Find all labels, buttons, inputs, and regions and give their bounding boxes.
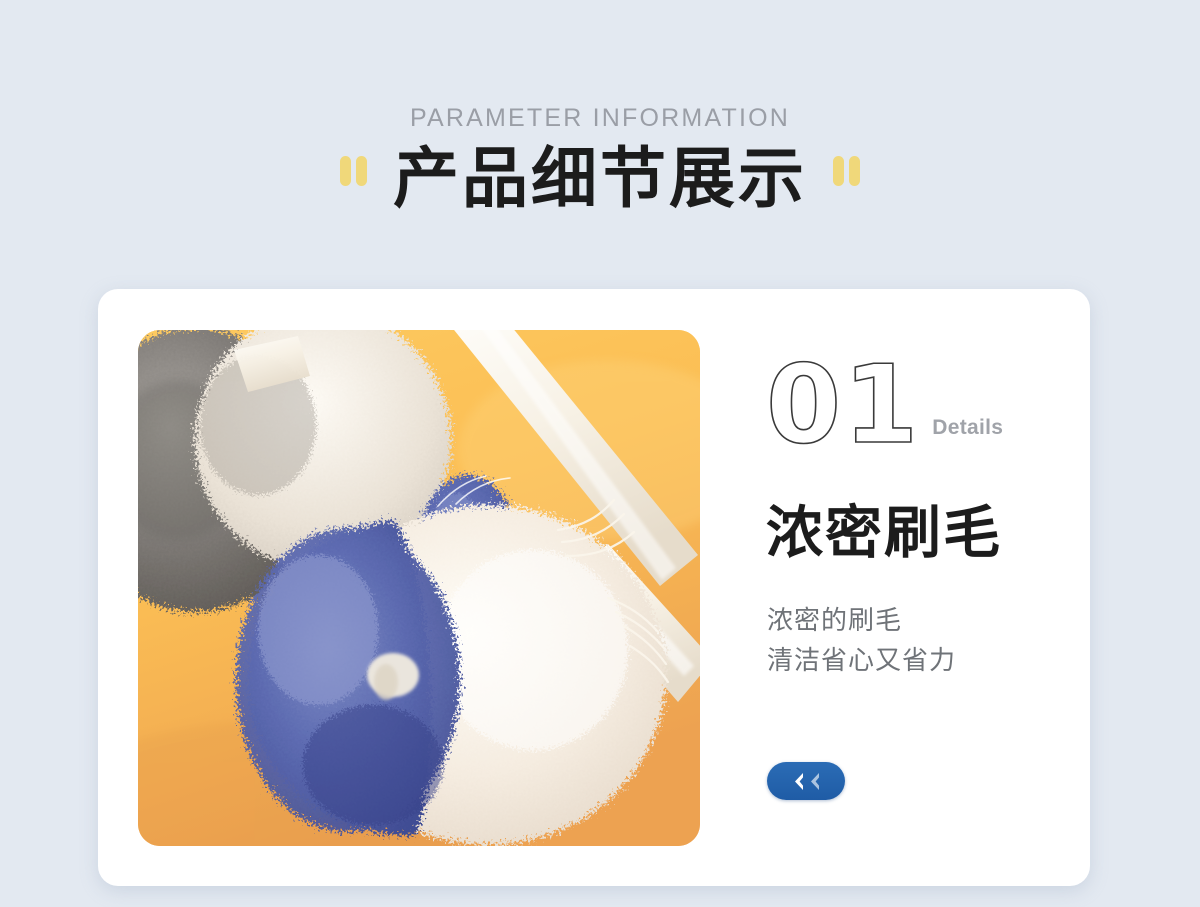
chevron-left-icon [791,772,806,791]
product-photo [138,330,700,846]
chevron-left-icon-secondary [807,772,822,791]
detail-number: 01 [766,363,920,449]
detail-info-column: 01 Details 浓密刷毛 浓密的刷毛 清洁省心又省力 [766,289,1090,886]
quote-bars-icon-right [833,156,860,186]
page-header: PARAMETER INFORMATION 产品细节展示 [0,0,1200,211]
detail-number-caption: Details [932,416,1003,449]
detail-subtitle-line-1: 浓密的刷毛 [767,600,956,640]
quote-bars-icon-left [340,156,367,186]
quote-bar [849,156,860,186]
detail-headline: 浓密刷毛 [766,505,1002,562]
detail-card: 01 Details 浓密刷毛 浓密的刷毛 清洁省心又省力 [98,289,1090,886]
detail-subtitle: 浓密的刷毛 清洁省心又省力 [767,600,956,681]
detail-number-row: 01 Details [766,363,1003,449]
prev-button[interactable] [767,762,845,800]
quote-bar [833,156,844,186]
header-title-row: 产品细节展示 [0,145,1200,211]
header-eyebrow: PARAMETER INFORMATION [0,104,1200,133]
page-title: 产品细节展示 [393,145,807,211]
quote-bar [356,156,367,186]
detail-subtitle-line-2: 清洁省心又省力 [767,640,956,680]
quote-bar [340,156,351,186]
